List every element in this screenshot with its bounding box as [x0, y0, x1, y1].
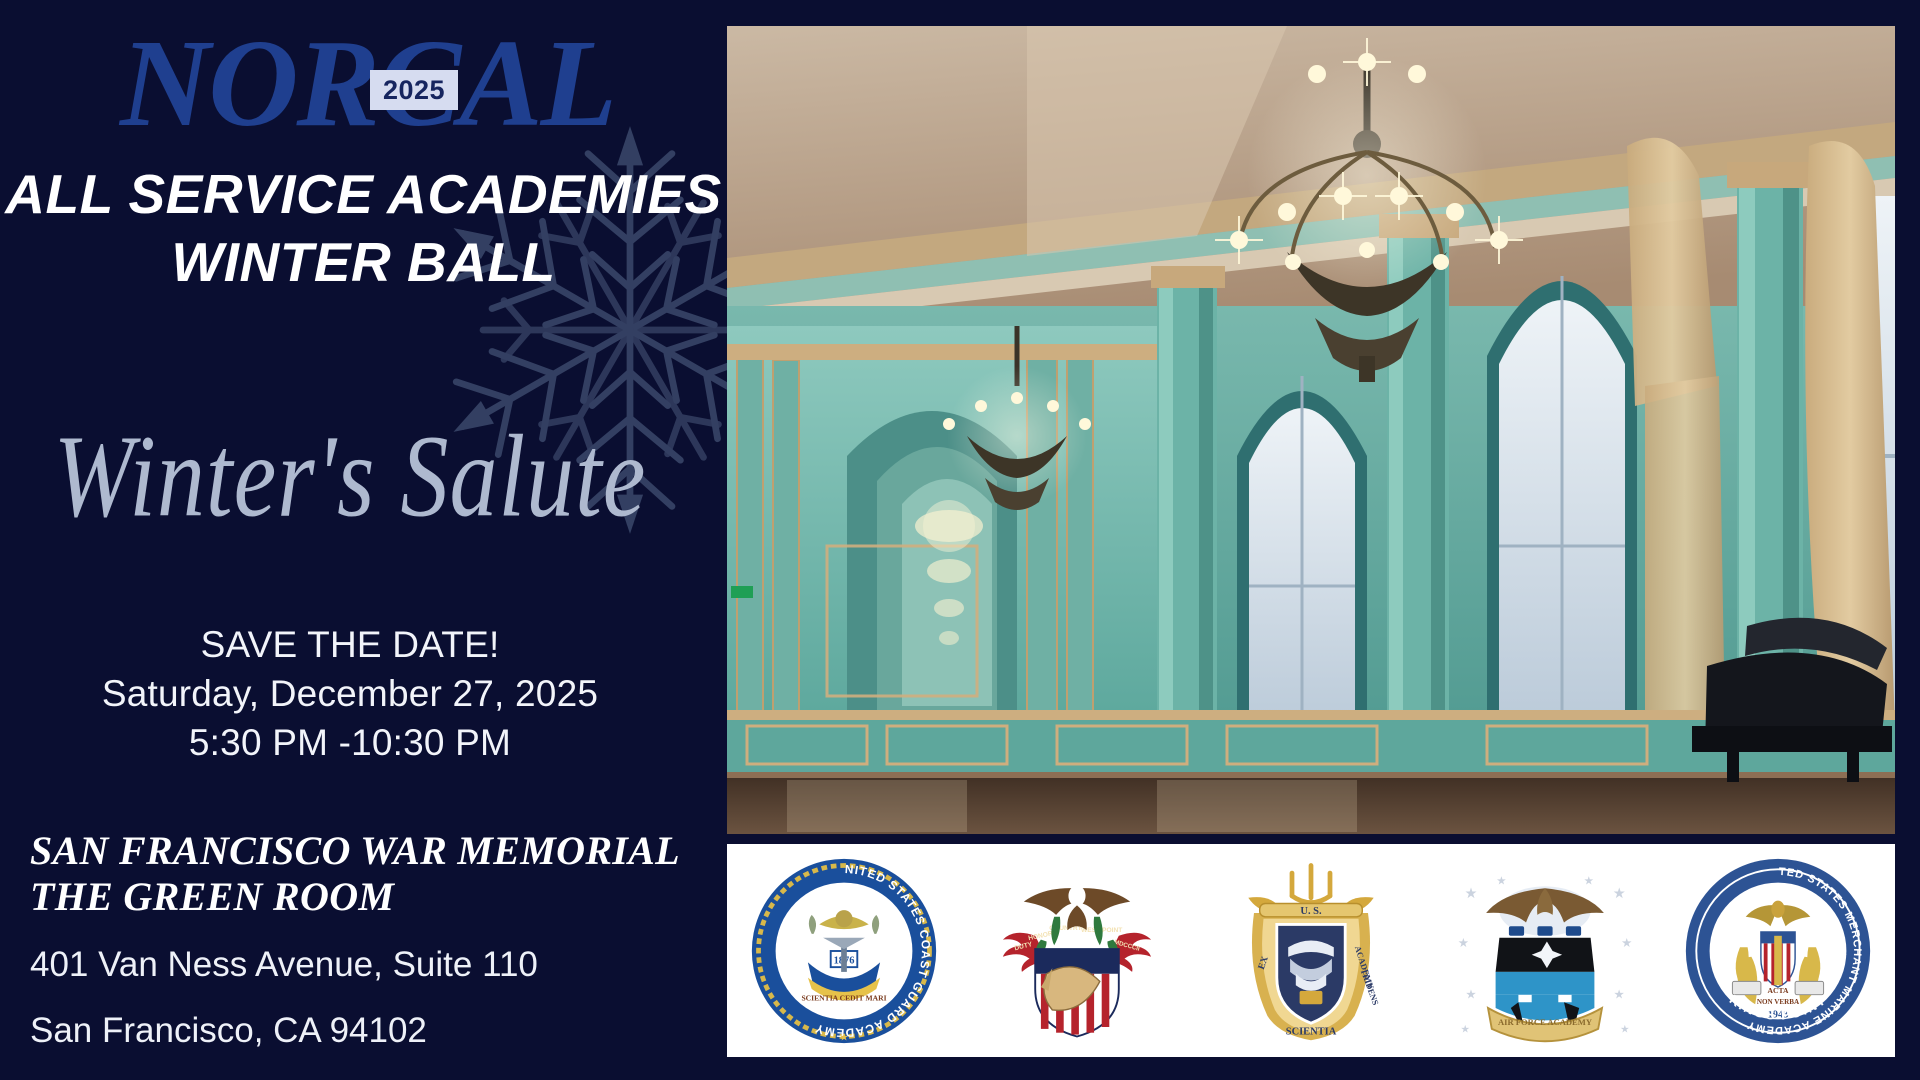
- svg-text:AIR FORCE ACADEMY: AIR FORCE ACADEMY: [1498, 1017, 1593, 1027]
- us-air-force-academy-seal: ★ ★ ★ ★ ★ ★ ★ ★ ★ ★: [1450, 856, 1640, 1046]
- venue-block: SAN FRANCISCO WAR MEMORIAL THE GREEN ROO…: [30, 828, 690, 1053]
- svg-text:NON VERBA: NON VERBA: [1757, 998, 1800, 1006]
- venue-address-line1: 401 Van Ness Avenue, Suite 110: [30, 943, 690, 987]
- venue-name-line2: THE GREEN ROOM: [30, 874, 690, 920]
- save-the-date-label: SAVE THE DATE!: [0, 620, 700, 669]
- us-coast-guard-academy-seal: 1876 UNITED STATES COAST GUARD ACADEMY S…: [749, 856, 939, 1046]
- ballroom-photo: [727, 26, 1895, 834]
- event-date: Saturday, December 27, 2025: [0, 669, 700, 718]
- event-flyer: NORCAL 2025 ALL SERVICE ACADEMIES WINTER…: [0, 0, 1920, 1080]
- svg-text:★: ★: [1621, 936, 1632, 950]
- service-academy-seals: 1876 UNITED STATES COAST GUARD ACADEMY S…: [727, 844, 1895, 1057]
- svg-text:★: ★: [1460, 1024, 1469, 1035]
- us-naval-academy-seal: U. S. EX TRIDENS ACADEMY SCIENTIA: [1216, 856, 1406, 1046]
- event-title-line1: ALL SERVICE ACADEMIES: [5, 163, 721, 225]
- event-theme-script: Winter's Salute: [0, 418, 700, 535]
- svg-text:★: ★: [1464, 885, 1477, 901]
- save-the-date-block: SAVE THE DATE! Saturday, December 27, 20…: [0, 620, 700, 768]
- svg-text:ACTA: ACTA: [1768, 985, 1789, 994]
- svg-text:★: ★: [839, 1032, 848, 1043]
- svg-text:SCIENTIA CEDIT MARI: SCIENTIA CEDIT MARI: [801, 993, 886, 1002]
- svg-text:★: ★: [1496, 875, 1506, 887]
- svg-text:★: ★: [1612, 885, 1625, 901]
- left-info-panel: NORCAL 2025 ALL SERVICE ACADEMIES WINTER…: [0, 0, 727, 1080]
- norcal-logo: NORCAL 2025: [120, 22, 680, 152]
- svg-text:U. S.: U. S.: [1300, 905, 1322, 916]
- event-time: 5:30 PM -10:30 PM: [0, 718, 700, 767]
- us-merchant-marine-academy-seal: ACTA NON VERBA 1943 UNITED STATES MERCHA…: [1683, 856, 1873, 1046]
- svg-text:★: ★: [1457, 936, 1468, 950]
- svg-text:★: ★: [1613, 987, 1624, 1001]
- venue-address-line2: San Francisco, CA 94102: [30, 1009, 690, 1053]
- us-military-academy-west-point-seal: DUTY HONOR COUNTRY WEST POINT MDCCCII: [982, 856, 1172, 1046]
- venue-name-line1: SAN FRANCISCO WAR MEMORIAL: [30, 828, 690, 874]
- svg-text:★: ★: [1710, 950, 1719, 961]
- svg-text:★: ★: [1620, 1024, 1629, 1035]
- event-title: ALL SERVICE ACADEMIES WINTER BALL: [0, 160, 727, 296]
- svg-text:★: ★: [1583, 875, 1593, 887]
- svg-text:SCIENTIA: SCIENTIA: [1286, 1026, 1337, 1037]
- svg-text:★: ★: [1465, 987, 1476, 1001]
- year-badge: 2025: [370, 70, 458, 110]
- svg-text:★: ★: [1839, 950, 1848, 961]
- event-title-line2: WINTER BALL: [0, 228, 727, 296]
